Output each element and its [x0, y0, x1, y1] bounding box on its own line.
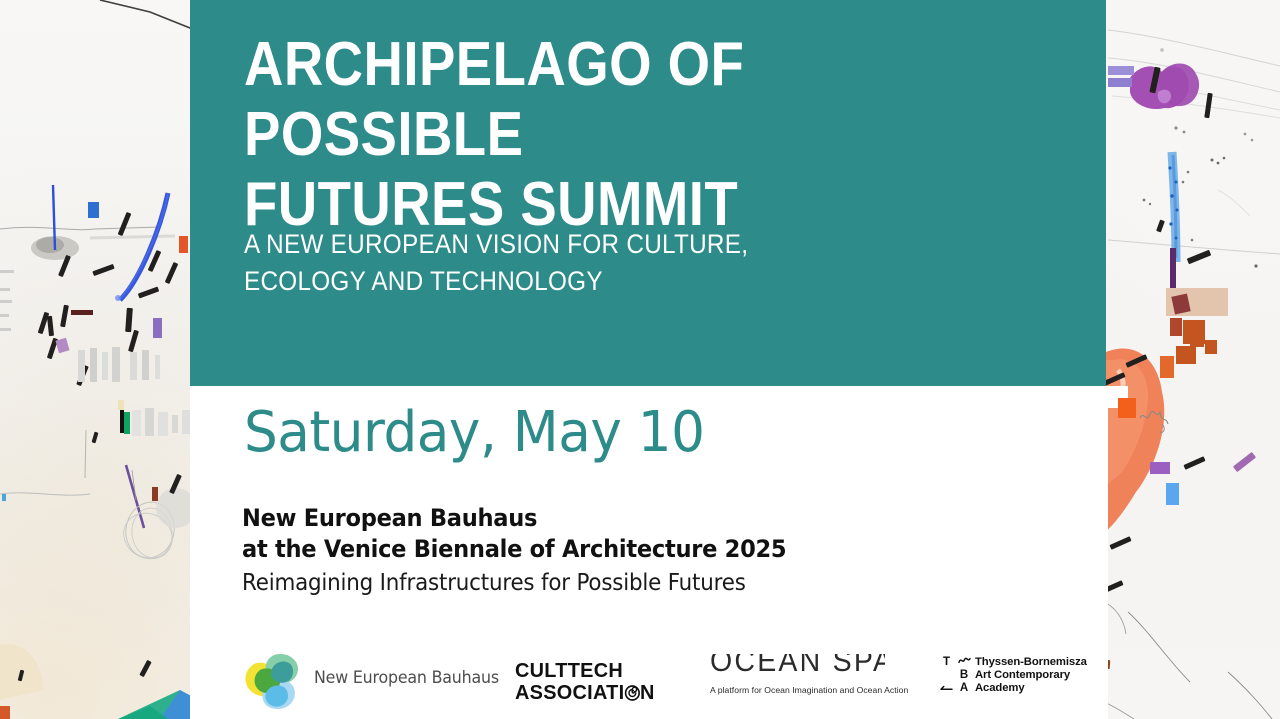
ocean-space-tagline: A platform for Ocean Imagination and Oce…	[710, 685, 885, 695]
partner-logo-row: New European Bauhaus CULTTECH ASSOCIATIN…	[190, 644, 1108, 716]
art-rect	[118, 400, 124, 410]
neb-flower-icon	[240, 650, 310, 712]
tba-word-2: Art Contemporary	[975, 669, 1100, 682]
art-rect	[1170, 318, 1182, 336]
event-tagline: Reimagining Infrastructures for Possible…	[242, 567, 781, 600]
art-bar	[90, 348, 97, 382]
tba-letter-b: B	[956, 669, 972, 682]
tba-arrow-icon	[940, 681, 953, 692]
art-rect	[1171, 294, 1190, 315]
neb-wordmark: New European Bauhaus	[314, 668, 499, 687]
art-bar	[0, 270, 14, 273]
tba-letter-t: T	[940, 656, 953, 669]
art-bar	[78, 350, 85, 382]
art-rect	[1190, 338, 1204, 347]
art-rect	[124, 412, 130, 434]
tba-word-1: Thyssen-Bornemisza	[975, 656, 1100, 669]
event-date: Saturday, May 10	[244, 402, 705, 464]
art-rect	[1176, 346, 1196, 364]
tba-numeral-2	[956, 655, 972, 670]
culttech-line-1: CULTTECH	[515, 660, 651, 682]
culttech-spiral-icon	[624, 684, 640, 700]
header-panel: ARCHIPELAGO OF POSSIBLE FUTURES SUMMIT A…	[190, 0, 1106, 386]
art-bar	[0, 314, 9, 317]
art-rect	[1166, 483, 1179, 505]
art-bar	[0, 288, 10, 291]
organiser-line-1: New European Bauhaus	[242, 503, 786, 534]
art-rect	[179, 236, 188, 253]
logo-tba21-academy[interactable]: T Thyssen-Bornemisza B Art Contemporary …	[940, 656, 1100, 704]
art-rect	[1160, 356, 1174, 378]
art-rect	[153, 318, 162, 338]
art-bar	[132, 410, 141, 436]
logo-culttech-association[interactable]: CULTTECH ASSOCIATIN	[515, 660, 655, 704]
tba-letter-a: A	[956, 682, 972, 695]
art-rect	[152, 487, 158, 501]
art-bar	[158, 412, 168, 436]
art-bar	[102, 352, 108, 380]
art-bar	[155, 355, 160, 379]
art-bar	[182, 410, 190, 434]
art-rect	[71, 310, 93, 315]
art-rect	[2, 494, 6, 501]
culttech-line-2: ASSOCIATIN	[515, 682, 651, 704]
organiser-block: New European Bauhaus at the Venice Bienn…	[242, 503, 821, 600]
art-bar	[112, 347, 120, 382]
tba21-grid: T Thyssen-Bornemisza B Art Contemporary …	[940, 656, 1100, 695]
ocean-space-wordmark: OCEAN SPACE	[710, 654, 885, 676]
page-subtitle: A NEW EUROPEAN VISION FOR CULTURE, ECOLO…	[244, 226, 982, 300]
art-bar	[142, 350, 149, 380]
logo-ocean-space[interactable]: OCEAN SPACE A platform for Ocean Imagina…	[710, 654, 885, 706]
art-bar	[0, 328, 11, 331]
art-rect	[1205, 340, 1217, 354]
ocean-space-wordmark-clip: OCEAN SPACE	[710, 654, 885, 683]
tba-numeral-1	[940, 681, 953, 696]
culttech-line-2-text: ASSOCIATI	[515, 681, 624, 704]
art-bar	[130, 352, 137, 380]
art-rect	[88, 202, 99, 218]
page-title: ARCHIPELAGO OF POSSIBLE FUTURES SUMMIT	[244, 30, 974, 240]
logo-new-european-bauhaus[interactable]: New European Bauhaus	[240, 648, 490, 714]
artwork-left-vector	[0, 0, 195, 719]
art-bar	[145, 408, 154, 436]
culttech-line-2-suffix: N	[640, 681, 655, 704]
art-rect	[1150, 462, 1170, 474]
event-poster: ARCHIPELAGO OF POSSIBLE FUTURES SUMMIT A…	[0, 0, 1280, 719]
art-bar	[0, 300, 12, 303]
art-bar	[172, 415, 178, 433]
tba-squiggle-icon	[958, 655, 971, 666]
tba-word-3: Academy	[975, 682, 1100, 695]
content-panel: Saturday, May 10 New European Bauhaus at…	[190, 386, 1108, 719]
organiser-line-2: at the Venice Biennale of Architecture 2…	[242, 534, 786, 565]
